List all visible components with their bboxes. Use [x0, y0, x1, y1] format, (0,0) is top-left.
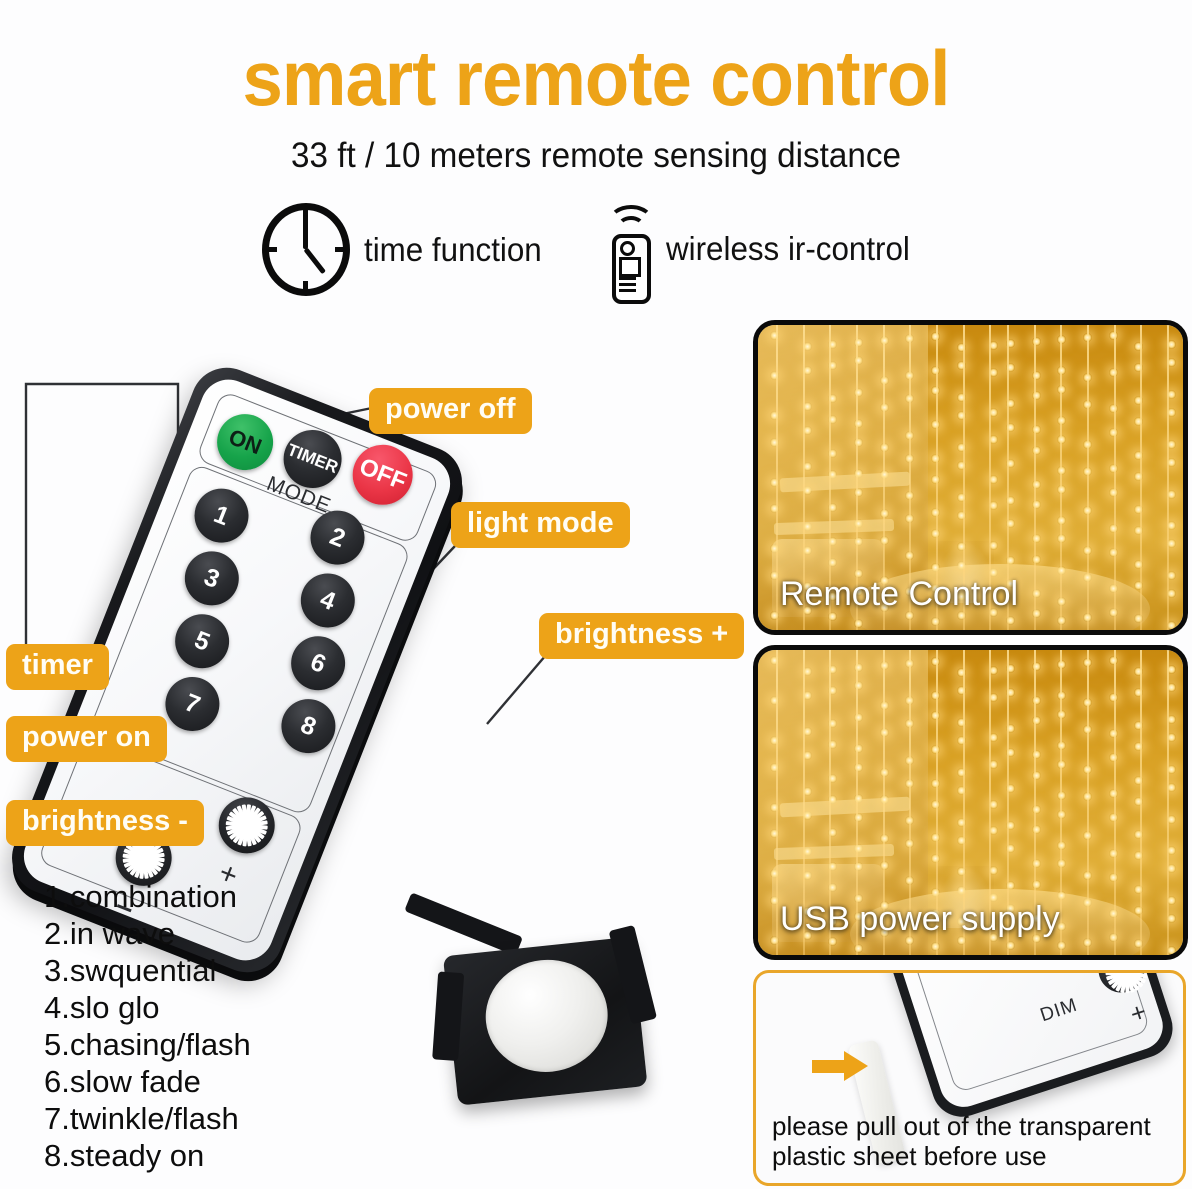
feature-wireless-ir: wireless ir-control [604, 199, 923, 299]
callout-brightness-minus: brightness - [6, 800, 204, 846]
callout-brightness-plus: brightness + [539, 613, 744, 659]
panel-caption: USB power supply [780, 900, 1060, 939]
callout-timer: timer [6, 644, 109, 690]
clock-icon [262, 203, 350, 296]
remote-corner-illustration: DIM + [878, 970, 1181, 1124]
sun-icon [221, 799, 273, 851]
panel-usb-power-supply: USB power supply [753, 645, 1188, 960]
callout-power-off: power off [369, 388, 532, 434]
feature-time-function: time function [262, 203, 551, 296]
ir-remote-icon [604, 199, 652, 299]
light-mode-list: 1.combination 2.in wave 3.swquential 4.s… [44, 878, 251, 1174]
panel-caption: Remote Control [780, 575, 1018, 614]
arrow-icon [812, 1051, 870, 1081]
callout-power-on: power on [6, 716, 167, 762]
feature-ir-label: wireless ir-control [666, 230, 910, 268]
feature-time-label: time function [364, 231, 542, 269]
page-subtitle: 33 ft / 10 meters remote sensing distanc… [30, 136, 1162, 176]
mode-list-item: 1.combination [44, 878, 251, 915]
mode-list-item: 5.chasing/flash [44, 1026, 251, 1063]
mode-list-item: 4.slo glo [44, 989, 251, 1026]
panel-remote-control: Remote Control [753, 320, 1188, 635]
battery-tray [417, 900, 674, 1137]
mode-list-item: 3.swquential [44, 952, 251, 989]
notice-caption: please pull out of the transparent plast… [772, 1111, 1151, 1171]
callout-light-mode: light mode [451, 502, 630, 548]
mode-list-item: 8.steady on [44, 1137, 251, 1174]
mode-list-item: 2.in wave [44, 915, 251, 952]
panel-plastic-sheet-notice: DIM + please pull out of the transparent… [753, 970, 1186, 1186]
notice-line-1: please pull out of the transparent [772, 1111, 1151, 1141]
mode-list-item: 6.slow fade [44, 1063, 251, 1100]
infographic-root: smart remote control 33 ft / 10 meters r… [0, 0, 1192, 1189]
page-title: smart remote control [42, 38, 1151, 118]
notice-line-2: plastic sheet before use [772, 1141, 1151, 1171]
mode-list-item: 7.twinkle/flash [44, 1100, 251, 1137]
